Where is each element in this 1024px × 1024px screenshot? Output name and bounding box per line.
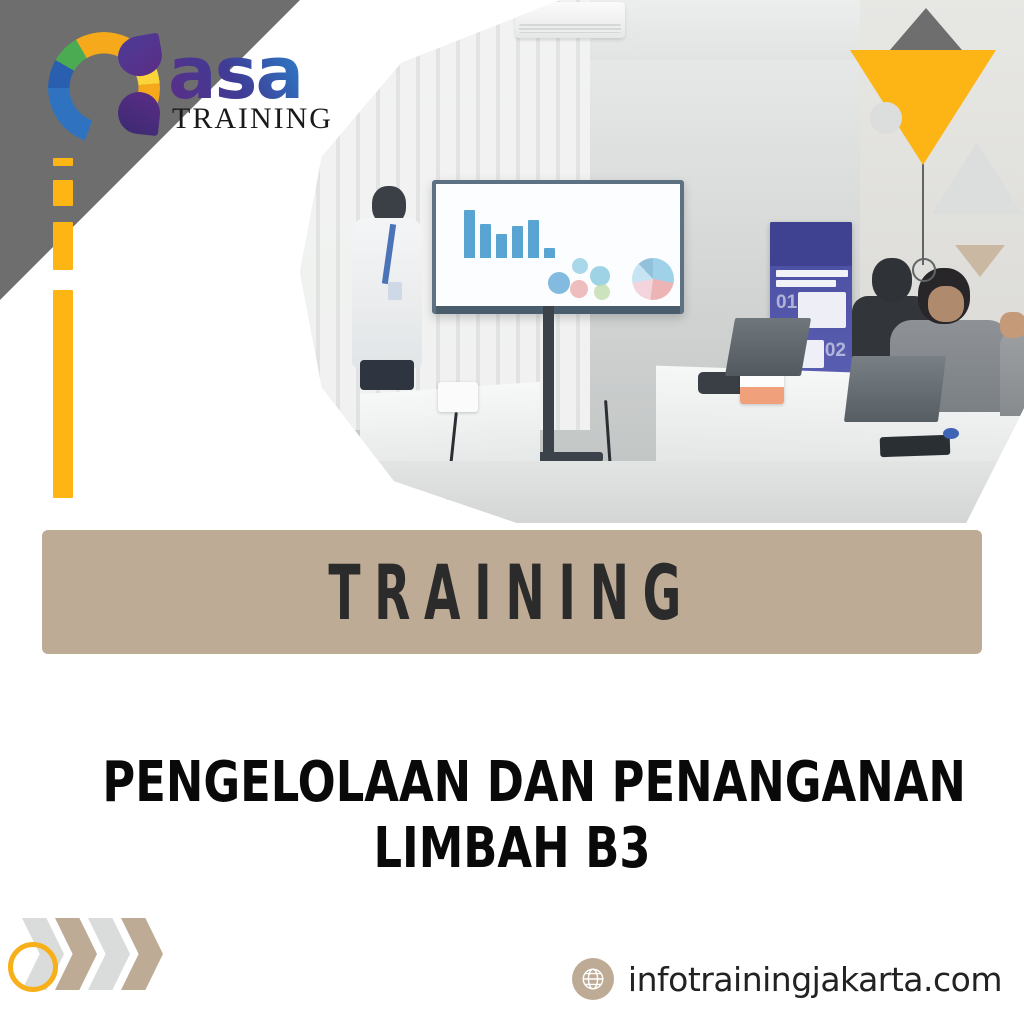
participant-1-head bbox=[872, 258, 912, 302]
poster-title-line-2 bbox=[776, 280, 836, 287]
hanging-ring bbox=[912, 258, 936, 282]
tissue-box-left bbox=[438, 382, 478, 412]
laptop-1 bbox=[725, 318, 811, 376]
page-title: PENGELOLAAN DAN PENANGANAN LIMBAH B3 bbox=[0, 750, 1024, 881]
hanging-line bbox=[922, 160, 924, 265]
floor bbox=[300, 461, 1024, 523]
circular-swirl-logo-icon bbox=[34, 18, 174, 158]
brand-logo: asa TRAINING bbox=[34, 18, 333, 158]
laptop-2 bbox=[844, 356, 946, 422]
triangle-tan-down-icon bbox=[955, 245, 1005, 277]
screen-pie-chart bbox=[632, 258, 674, 300]
screen-bottom-bar bbox=[436, 306, 680, 314]
accent-dash-2 bbox=[53, 180, 73, 206]
air-conditioner bbox=[515, 2, 625, 38]
flyer-canvas: 01 02 bbox=[0, 0, 1024, 1024]
poster-number-2: 02 bbox=[825, 340, 846, 362]
brand-wordmark: asa TRAINING bbox=[168, 40, 333, 136]
participant-3-body bbox=[1000, 330, 1024, 416]
presenter-lower bbox=[360, 360, 414, 390]
website-footer[interactable]: infotrainingjakarta.com bbox=[572, 958, 1002, 1000]
circle-gray-icon bbox=[870, 102, 902, 134]
website-url[interactable]: infotrainingjakarta.com bbox=[628, 960, 1002, 999]
accent-dash-3 bbox=[53, 222, 73, 270]
mouse-on-table bbox=[943, 428, 959, 439]
training-banner: TRAINING bbox=[42, 530, 982, 654]
presenter-badge bbox=[388, 282, 402, 300]
poster-number-1: 01 bbox=[776, 292, 797, 314]
brand-subtitle: TRAINING bbox=[172, 102, 333, 136]
globe-icon bbox=[572, 958, 614, 1000]
screen-stand bbox=[543, 306, 554, 456]
participant-3-arm bbox=[1000, 312, 1024, 338]
presentation-screen bbox=[432, 180, 684, 314]
participant-2-face bbox=[928, 286, 964, 322]
headline-line-1: PENGELOLAAN DAN PENANGANAN bbox=[102, 750, 921, 816]
phone-on-table bbox=[880, 435, 951, 457]
headline-line-2: LIMBAH B3 bbox=[102, 816, 921, 882]
brand-name: asa bbox=[168, 40, 333, 106]
poster-header bbox=[770, 222, 852, 266]
screen-bar-chart bbox=[464, 202, 555, 258]
circle-outline-orange-icon bbox=[8, 942, 58, 992]
wall-upper bbox=[590, 0, 860, 60]
triangle-light-up-icon bbox=[932, 142, 1022, 214]
screen-bubble-chart bbox=[548, 258, 622, 302]
accent-dash-1 bbox=[53, 158, 73, 166]
poster-title-line-1 bbox=[776, 270, 848, 277]
training-banner-label: TRAINING bbox=[329, 548, 696, 637]
accent-dash-4 bbox=[53, 290, 73, 498]
